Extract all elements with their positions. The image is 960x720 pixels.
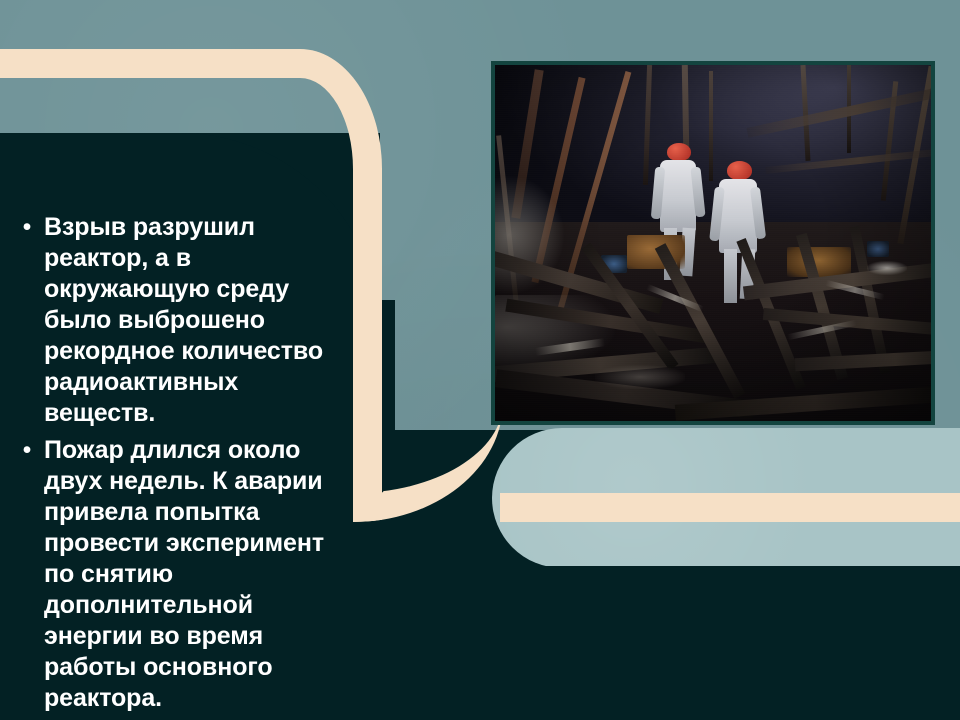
disaster-photo [491,61,935,425]
worker-leg [724,249,737,303]
photo-content [495,65,931,421]
slide-canvas: • Взрыв разрушил реактор, а в окружающую… [0,0,960,720]
cream-stripe-lower-horizontal [500,493,960,522]
photo-beam [709,71,713,181]
list-item: • Пожар длился около двух недель. К авар… [10,435,410,714]
bullet-text: Взрыв разрушил реактор, а в окружающую с… [44,212,323,429]
bullet-list: • Взрыв разрушил реактор, а в окружающую… [10,212,410,720]
bullet-marker-icon: • [10,435,44,466]
photo-highlight [867,261,907,275]
photo-highlight [595,365,685,389]
bullet-text: Пожар длился около двух недель. К аварии… [44,435,324,714]
photo-debris-blue [867,241,889,257]
bullet-marker-icon: • [10,212,44,243]
worker-helmet [667,143,691,161]
worker-helmet [727,161,752,180]
list-item: • Взрыв разрушил реактор, а в окружающую… [10,212,410,429]
cream-stripe-upper-horizontal [0,49,300,78]
photo-rust-pile [787,247,851,277]
